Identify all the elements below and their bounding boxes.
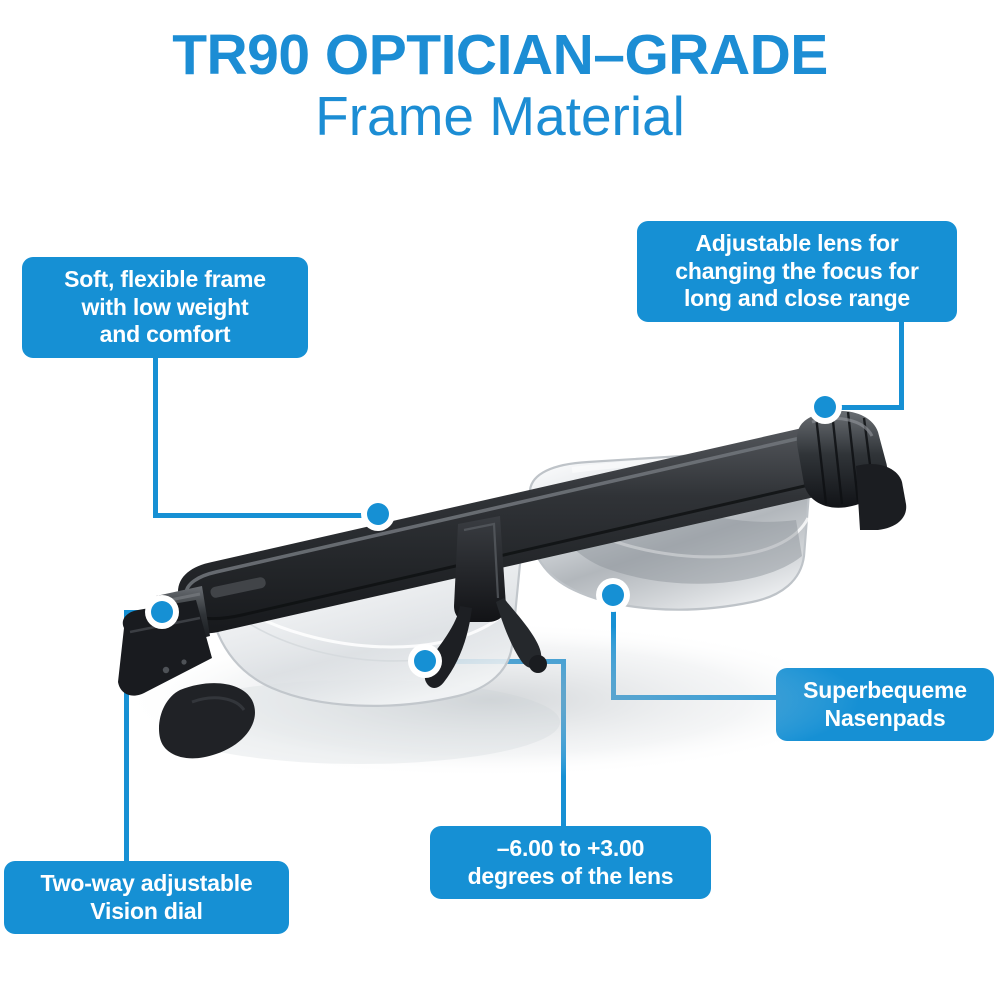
product-image-glasses: [60, 370, 920, 790]
title-line-1: TR90 OPTICIAN–GRADE: [0, 26, 1000, 84]
callout-badge-adjustable-lens[interactable]: Adjustable lens for changing the focus f…: [637, 221, 957, 322]
callout-dot-soft-frame[interactable]: [361, 497, 395, 531]
callout-dot-adjustable-lens[interactable]: [808, 390, 842, 424]
callout-badge-degrees[interactable]: –6.00 to +3.00 degrees of the lens: [430, 826, 711, 899]
infographic-canvas: TR90 OPTICIAN–GRADE Frame Material: [0, 0, 1000, 1000]
callout-dot-nosepads[interactable]: [596, 578, 630, 612]
title-line-2: Frame Material: [0, 88, 1000, 144]
page-title: TR90 OPTICIAN–GRADE Frame Material: [0, 26, 1000, 144]
callout-dot-vision-dial[interactable]: [145, 595, 179, 629]
callout-dot-degrees[interactable]: [408, 644, 442, 678]
callout-badge-soft-frame[interactable]: Soft, flexible frame with low weight and…: [22, 257, 308, 358]
callout-badge-vision-dial[interactable]: Two-way adjustable Vision dial: [4, 861, 289, 934]
